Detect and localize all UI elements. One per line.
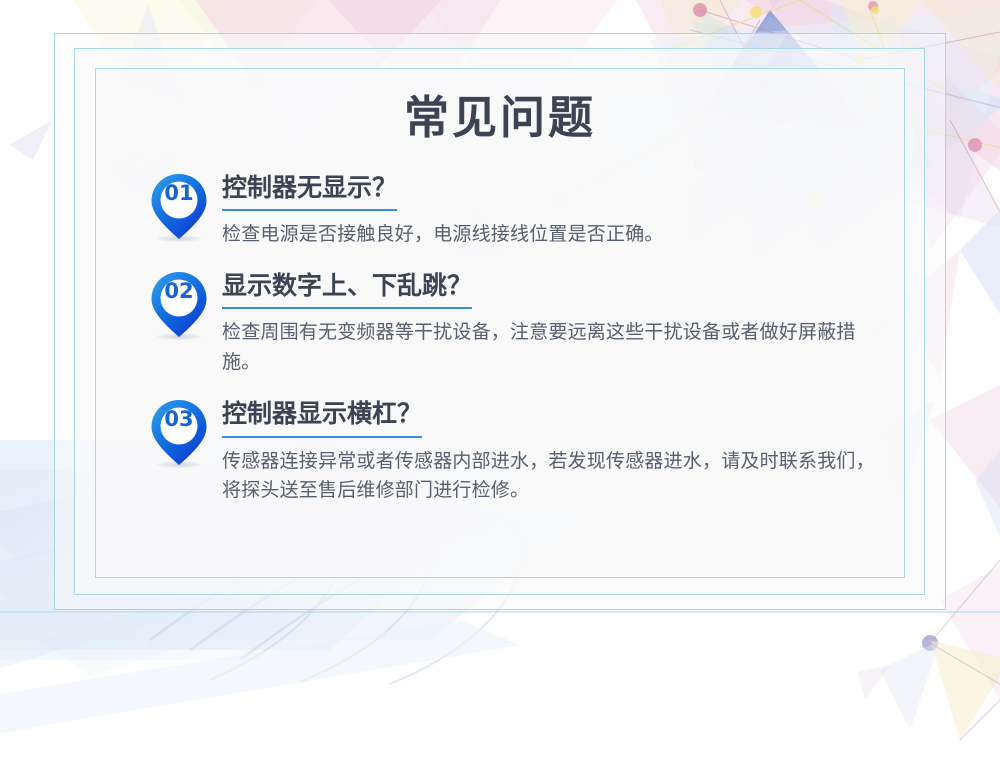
faq-question: 显示数字上、下乱跳？ — [222, 271, 472, 309]
faq-item-text: 控制器无显示？ 检查电源是否接触良好，电源线接线位置是否正确。 — [208, 171, 880, 250]
map-pin-icon: 01 — [150, 173, 208, 247]
faq-item: 02 显示数字上、下乱跳？ 检查周围有无变频器等干扰设备，注意要远离这些干扰设备… — [95, 269, 905, 377]
faq-item: 03 控制器显示横杠？ 传感器连接异常或者传感器内部进水，若发现传感器进水，请及… — [95, 397, 905, 505]
faq-list: 01 控制器无显示？ 检查电源是否接触良好，电源线接线位置是否正确。 — [95, 143, 905, 506]
faq-question: 控制器无显示？ — [222, 173, 397, 211]
faq-item: 01 控制器无显示？ 检查电源是否接触良好，电源线接线位置是否正确。 — [95, 171, 905, 250]
faq-item-number: 01 — [150, 181, 208, 205]
faq-item-number: 02 — [150, 279, 208, 303]
faq-item-text: 显示数字上、下乱跳？ 检查周围有无变频器等干扰设备，注意要远离这些干扰设备或者做… — [208, 269, 880, 377]
faq-answer: 检查周围有无变频器等干扰设备，注意要远离这些干扰设备或者做好屏蔽措施。 — [222, 318, 880, 377]
faq-item-text: 控制器显示横杠？ 传感器连接异常或者传感器内部进水，若发现传感器进水，请及时联系… — [208, 397, 880, 505]
map-pin-icon: 02 — [150, 271, 208, 345]
map-pin-icon: 03 — [150, 399, 208, 473]
faq-page: 常见问题 — [0, 0, 1000, 758]
faq-answer: 传感器连接异常或者传感器内部进水，若发现传感器进水，请及时联系我们，将探头送至售… — [222, 447, 880, 506]
faq-answer: 检查电源是否接触良好，电源线接线位置是否正确。 — [222, 220, 880, 249]
faq-content: 常见问题 — [95, 68, 905, 578]
faq-question: 控制器显示横杠？ — [222, 399, 422, 437]
faq-item-number: 03 — [150, 407, 208, 431]
page-title: 常见问题 — [95, 68, 905, 143]
